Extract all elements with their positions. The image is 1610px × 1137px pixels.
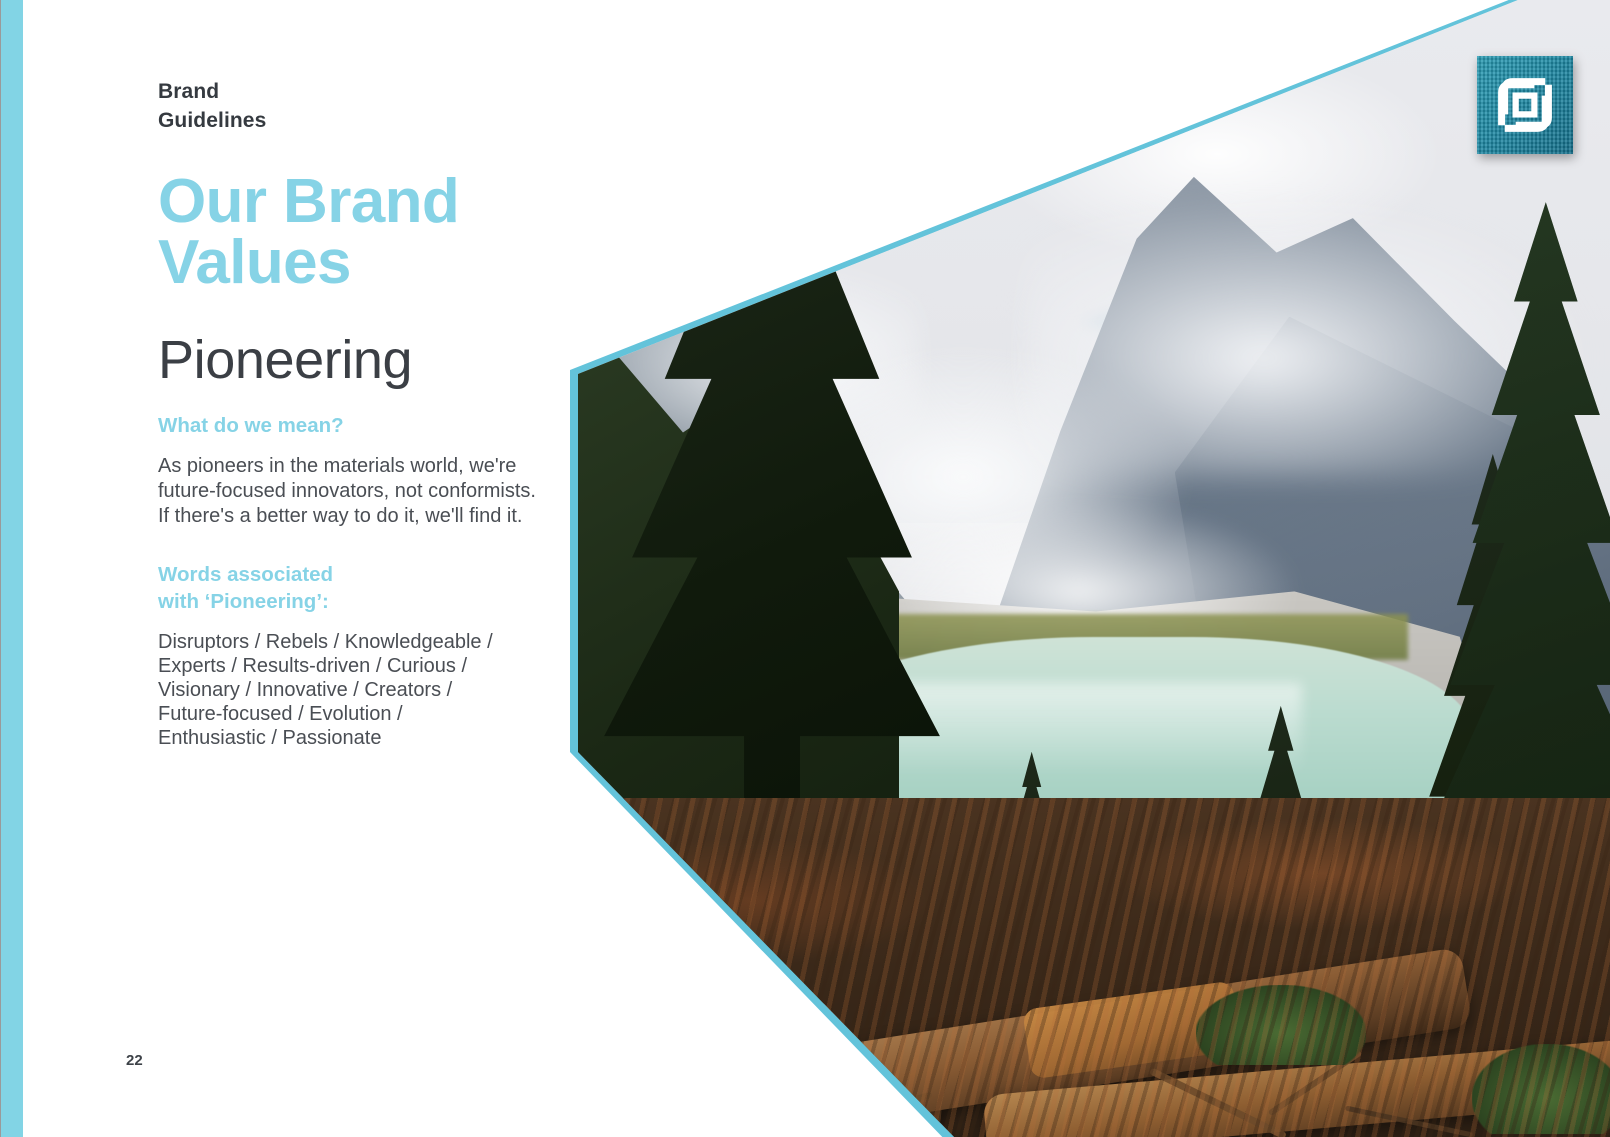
shrub-left <box>581 1005 701 1065</box>
document-label-line1: Brand <box>158 78 578 107</box>
associated-words-line1: Disruptors / Rebels / Knowledgeable / <box>158 630 578 654</box>
associated-words-line2: Experts / Results-driven / Curious / <box>158 654 578 678</box>
fallen-log-1 <box>707 947 1473 1137</box>
shrub-center <box>1196 985 1366 1065</box>
brand-guidelines-page: Brand Guidelines Our Brand Values Pionee… <box>0 0 1610 1137</box>
brand-logo-badge <box>1477 56 1573 154</box>
conifer-foreground-left <box>560 0 1005 843</box>
associated-words-line5: Enthusiastic / Passionate <box>158 726 578 750</box>
branch-2 <box>1267 1050 1362 1116</box>
value-description-line1: As pioneers in the materials world, we'r… <box>158 454 578 479</box>
value-description: As pioneers in the materials world, we'r… <box>158 454 578 528</box>
value-description-line3: If there's a better way to do it, we'll … <box>158 504 578 529</box>
forest-floor <box>560 798 1610 1137</box>
what-do-we-mean-text: What do we mean? <box>158 413 578 440</box>
fallen-log-3 <box>560 1052 943 1137</box>
branch-1 <box>1149 1067 1287 1137</box>
interlocking-pinwheel-icon <box>1486 66 1564 144</box>
fallen-log-highlight <box>1023 981 1243 1080</box>
value-name: Pioneering <box>158 333 578 387</box>
associated-words-list: Disruptors / Rebels / Knowledgeable / Ex… <box>158 630 578 750</box>
value-description-line2: future-focused innovators, not conformis… <box>158 479 578 504</box>
what-do-we-mean-heading: What do we mean? <box>158 413 578 440</box>
page-title-line1: Our Brand <box>158 172 578 233</box>
page-number: 22 <box>126 1052 143 1069</box>
text-column: Brand Guidelines Our Brand Values Pionee… <box>158 78 578 750</box>
words-associated-heading: Words associated with ‘Pioneering’: <box>158 562 578 615</box>
fallen-log-2 <box>983 1035 1610 1137</box>
branch-4 <box>1345 1105 1473 1137</box>
page-title: Our Brand Values <box>158 172 578 294</box>
document-label: Brand Guidelines <box>158 78 578 136</box>
associated-words-line3: Visionary / Innovative / Creators / <box>158 678 578 702</box>
associated-words-line4: Future-focused / Evolution / <box>158 702 578 726</box>
words-associated-line1: Words associated <box>158 562 578 589</box>
words-associated-line2: with ‘Pioneering’: <box>158 589 578 616</box>
document-label-line2: Guidelines <box>158 107 578 136</box>
branch-3 <box>816 1091 933 1130</box>
shrub-right <box>1472 1044 1610 1134</box>
page-title-line2: Values <box>158 233 578 294</box>
left-accent-bar <box>0 0 23 1137</box>
